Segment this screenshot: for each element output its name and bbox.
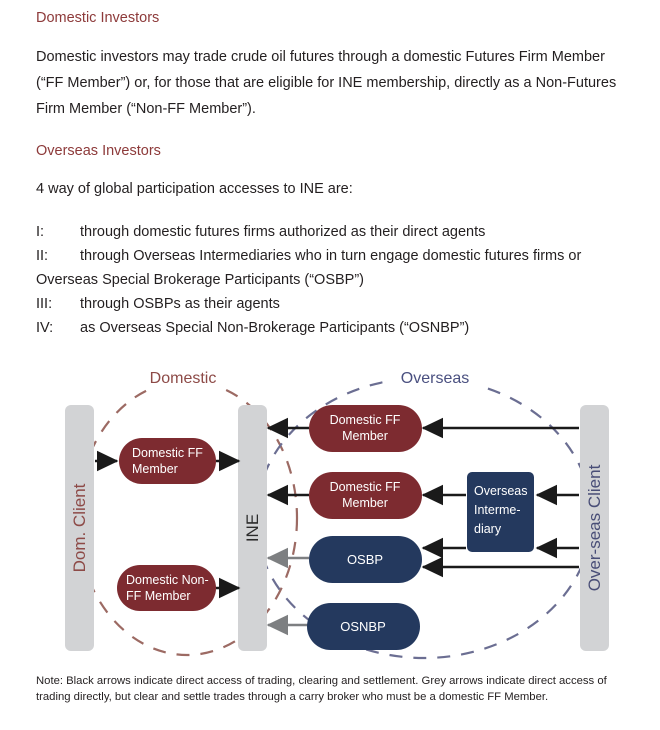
node-label-osbp: OSBP [347, 552, 383, 567]
list-item-iii: III:through OSBPs as their agents [36, 292, 636, 316]
bar-label-ine: INE [243, 514, 262, 542]
diagram-note: Note: Black arrows indicate direct acces… [36, 674, 630, 705]
node-label-line2: Member [342, 496, 388, 510]
node-label-line2: FF Member [126, 589, 191, 603]
overseas-zone-ellipse [256, 378, 592, 658]
node-domestic-ff-member-r2[interactable]: Domestic FF Member [309, 472, 422, 519]
list-marker-iii: III: [36, 292, 80, 316]
list-text-i: through domestic futures firms authorize… [80, 224, 485, 240]
node-osnbp[interactable]: OSNBP [307, 603, 420, 650]
list-item-i: I:through domestic futures firms authori… [36, 220, 636, 244]
heading-overseas-investors: Overseas Investors [36, 141, 636, 161]
bar-label-overseas-client: Over-seas Client [585, 464, 604, 591]
access-list: I:through domestic futures firms authori… [36, 220, 636, 340]
list-text-iii: through OSBPs as their agents [80, 296, 280, 312]
participation-flow-diagram: Domestic Overseas Dom. Client INE Over-s… [0, 368, 660, 664]
zone-label-domestic: Domestic [150, 370, 217, 387]
node-domestic-ff-member-r1[interactable]: Domestic FF Member [309, 405, 422, 452]
article-body: Domestic Investors Domestic investors ma… [36, 0, 636, 340]
node-osbp[interactable]: OSBP [309, 536, 422, 583]
list-marker-ii: II: [36, 244, 80, 268]
list-item-ii: II:through Overseas Intermediaries who i… [36, 244, 636, 292]
node-label-line1: Domestic Non- [126, 573, 209, 587]
node-label-line2: Interme- [474, 503, 521, 517]
list-text-iv: as Overseas Special Non-Brokerage Partic… [80, 320, 469, 336]
list-marker-i: I: [36, 220, 80, 244]
node-label-line1: Domestic FF [132, 446, 203, 460]
paragraph-overseas-investors: 4 way of global participation accesses t… [36, 176, 636, 202]
node-label-line2: Member [342, 429, 388, 443]
heading-domestic-investors: Domestic Investors [36, 8, 636, 28]
node-overseas-intermediary[interactable]: Overseas Interme- diary [467, 472, 534, 552]
page-root: Domestic Investors Domestic investors ma… [0, 0, 660, 730]
bar-label-dom-client: Dom. Client [70, 483, 89, 572]
node-label-line1: Domestic FF [330, 413, 401, 427]
paragraph-domestic-investors: Domestic investors may trade crude oil f… [36, 44, 636, 122]
zone-label-overseas: Overseas [401, 370, 469, 387]
node-label-line2: Member [132, 462, 178, 476]
node-label-line1: Domestic FF [330, 480, 401, 494]
node-label-line1: Overseas [474, 484, 528, 498]
node-domestic-non-ff-member[interactable]: Domestic Non- FF Member [117, 565, 216, 611]
list-marker-iv: IV: [36, 316, 80, 340]
list-text-ii: through Overseas Intermediaries who in t… [36, 248, 585, 288]
node-label-osnbp: OSNBP [340, 619, 386, 634]
node-domestic-ff-member-left[interactable]: Domestic FF Member [119, 438, 216, 484]
list-item-iv: IV:as Overseas Special Non-Brokerage Par… [36, 316, 636, 340]
node-label-line3: diary [474, 522, 502, 536]
